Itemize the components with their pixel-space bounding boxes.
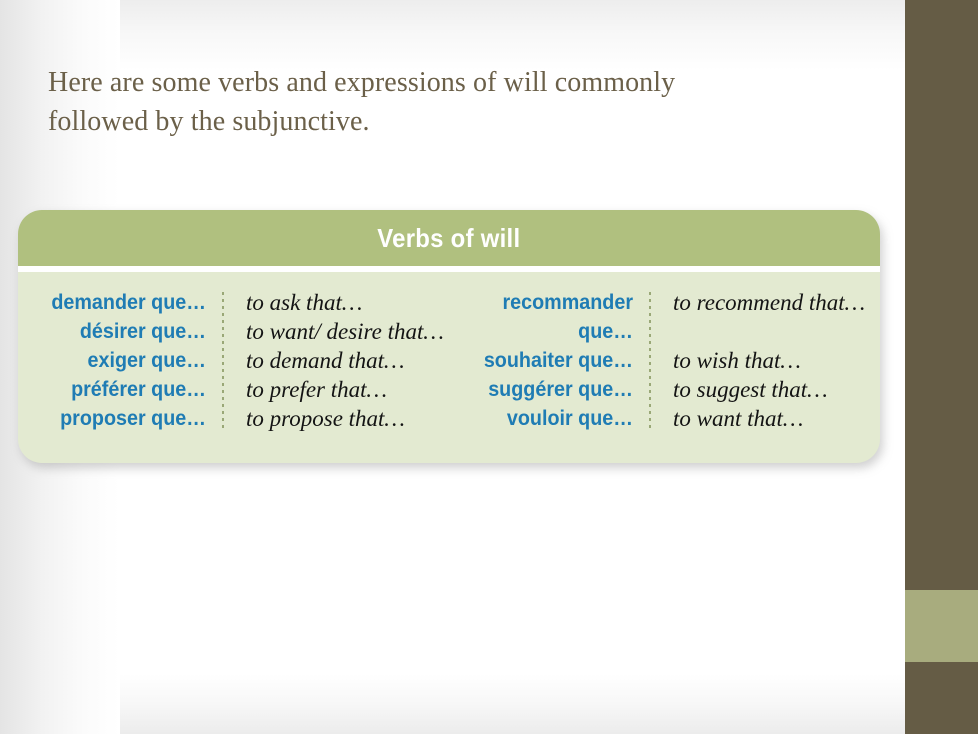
verb-french-term: souhaiter que… xyxy=(464,346,633,375)
verb-french-term: vouloir que… xyxy=(464,404,633,433)
page-title-line-1: Here are some verbs and expressions of w… xyxy=(48,63,848,102)
verb-french-term: suggérer que… xyxy=(464,375,633,404)
verb-english-translation: to recommend that… xyxy=(673,288,880,346)
verb-english-translation: to want that… xyxy=(673,404,880,433)
verb-french-term: désirer que… xyxy=(37,317,206,346)
verb-english-translation: to want/ desire that… xyxy=(246,317,453,346)
left-french-column: demander que…désirer que…exiger que…préf… xyxy=(26,288,222,433)
verb-english-translation: to suggest that… xyxy=(673,375,880,404)
verb-english-translation: to wish that… xyxy=(673,346,880,375)
page-title: Here are some verbs and expressions of w… xyxy=(48,63,848,141)
verbs-table-header-title: Verbs of will xyxy=(377,223,520,254)
right-english-column: to recommend that…to wish that…to sugges… xyxy=(651,288,880,433)
verbs-table-left-half: demander que…désirer que…exiger que…préf… xyxy=(18,288,453,433)
verb-french-term: proposer que… xyxy=(37,404,206,433)
left-english-column: to ask that…to want/ desire that…to dema… xyxy=(224,288,453,433)
verb-french-term: demander que… xyxy=(37,288,206,317)
decorative-side-bar-accent xyxy=(905,590,978,662)
decorative-side-bar xyxy=(905,0,978,734)
verb-french-term: recommander que… xyxy=(464,288,633,346)
verbs-table-header: Verbs of will xyxy=(18,210,880,266)
verbs-table-body: demander que…désirer que…exiger que…préf… xyxy=(18,272,880,463)
background-vignette-bottom xyxy=(0,674,905,734)
slide-canvas: Here are some verbs and expressions of w… xyxy=(0,0,978,734)
verbs-table-card: Verbs of will demander que…désirer que…e… xyxy=(18,210,880,463)
verbs-table-right-half: recommander que…souhaiter que…suggérer q… xyxy=(453,288,880,433)
verb-english-translation: to ask that… xyxy=(246,288,453,317)
verb-english-translation: to demand that… xyxy=(246,346,453,375)
verb-french-term: exiger que… xyxy=(37,346,206,375)
verb-english-translation: to prefer that… xyxy=(246,375,453,404)
verb-english-translation: to propose that… xyxy=(246,404,453,433)
verb-french-term: préférer que… xyxy=(37,375,206,404)
right-french-column: recommander que…souhaiter que…suggérer q… xyxy=(453,288,649,433)
background-vignette-top xyxy=(0,0,905,70)
page-title-line-2: followed by the subjunctive. xyxy=(48,102,848,141)
